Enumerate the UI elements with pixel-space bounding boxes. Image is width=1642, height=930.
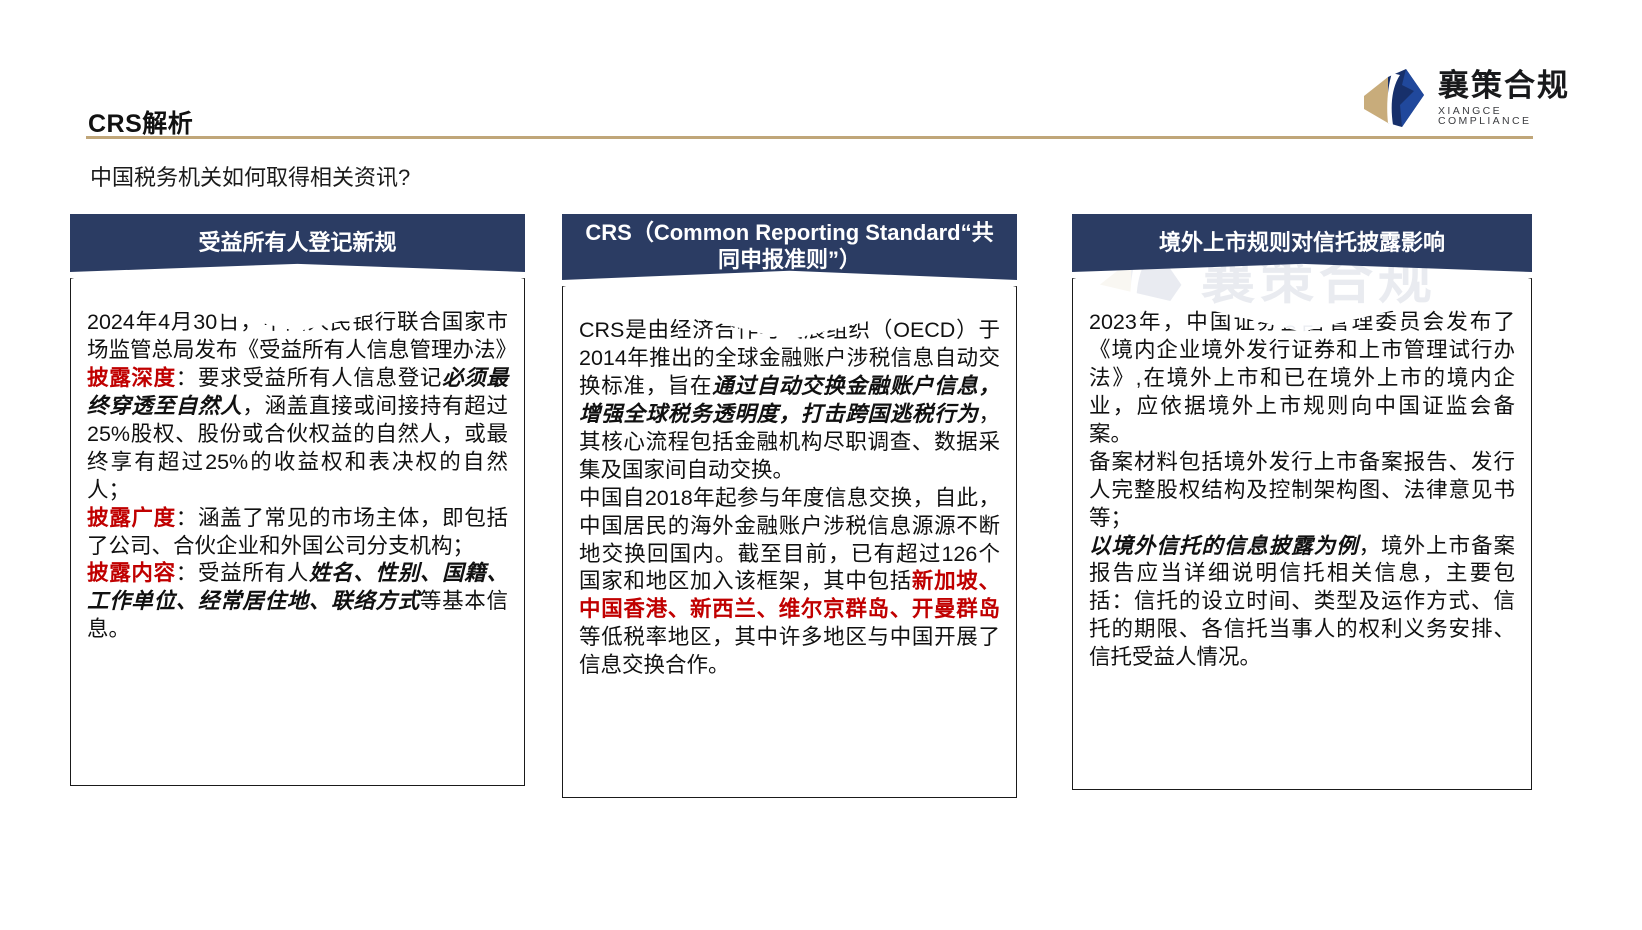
title-divider [86, 136, 1533, 139]
text-run: 披露内容 [87, 561, 176, 585]
card-beneficial-owner: 受益所有人登记新规 2024年4月30日，中国人民银行联合国家市场监管总局发布《… [70, 214, 525, 786]
card-paragraph: 披露内容：受益所有人姓名、性别、国籍、工作单位、经常居住地、联络方式等基本信息。 [87, 560, 508, 644]
text-run: 披露深度 [87, 366, 176, 390]
card-text-overseas-listing: 2023年，中国证券监督管理委员会发布了《境内企业境外发行证券和上市管理试行办法… [1089, 309, 1515, 672]
card-paragraph: CRS是由经济合作与发展组织（OECD）于2014年推出的全球金融账户涉税信息自… [579, 317, 1000, 485]
card-paragraph: 2023年，中国证券监督管理委员会发布了《境内企业境外发行证券和上市管理试行办法… [1089, 309, 1515, 449]
card-body-overseas-listing: 2023年，中国证券监督管理委员会发布了《境内企业境外发行证券和上市管理试行办法… [1072, 278, 1532, 790]
card-text-beneficial-owner: 2024年4月30日，中国人民银行联合国家市场监管总局发布《受益所有人信息管理办… [87, 309, 508, 644]
card-paragraph: 以境外信托的信息披露为例，境外上市备案报告应当详细说明信托相关信息，主要包括：信… [1089, 533, 1515, 673]
card-paragraph: 披露深度：要求受益所有人信息登记必须最终穿透至自然人，涵盖直接或间接持有超过25… [87, 365, 508, 505]
card-paragraph: 中国自2018年起参与年度信息交换，自此，中国居民的海外金融账户涉税信息源源不断… [579, 485, 1000, 681]
text-run: ：受益所有人 [176, 561, 309, 585]
brand-logo: 襄策合规 XIANGCE COMPLIANCE [1362, 62, 1582, 134]
text-run: 备案材料包括境外发行上市备案报告、发行人完整股权结构及控制架构图、法律意见书等； [1089, 450, 1515, 530]
card-banner-beneficial-owner: 受益所有人登记新规 [70, 214, 525, 272]
card-text-crs: CRS是由经济合作与发展组织（OECD）于2014年推出的全球金融账户涉税信息自… [579, 317, 1000, 680]
page-title: CRS解析 [88, 104, 193, 140]
logo-name-en: XIANGCE COMPLIANCE [1438, 106, 1582, 127]
card-banner-overseas-listing: 境外上市规则对信托披露影响 [1072, 214, 1532, 272]
card-paragraph: 披露广度：涵盖了常见的市场主体，即包括了公司、合伙企业和外国公司分支机构； [87, 505, 508, 561]
text-run: 2023年，中国证券监督管理委员会发布了《境内企业境外发行证券和上市管理试行办法… [1089, 310, 1515, 446]
card-paragraph: 备案材料包括境外发行上市备案报告、发行人完整股权结构及控制架构图、法律意见书等； [1089, 449, 1515, 533]
text-run: 2024年4月30日，中国人民银行联合国家市场监管总局发布《受益所有人信息管理办… [87, 310, 517, 362]
text-run: ：要求受益所有人信息登记 [176, 366, 442, 390]
text-run: 披露广度 [87, 506, 176, 530]
card-body-beneficial-owner: 2024年4月30日，中国人民银行联合国家市场监管总局发布《受益所有人信息管理办… [70, 278, 525, 786]
text-run: 以境外信托的信息披露为例 [1089, 534, 1359, 558]
card-body-crs: CRS是由经济合作与发展组织（OECD）于2014年推出的全球金融账户涉税信息自… [562, 286, 1017, 798]
text-run: 等低税率地区，其中许多地区与中国开展了信息交换合作。 [579, 625, 1000, 677]
logo-wordmark: 襄策合规 XIANGCE COMPLIANCE [1438, 70, 1582, 127]
card-crs: CRS（Common Reporting Standard“共同申报准则”） C… [562, 214, 1017, 798]
logo-name-cn: 襄策合规 [1438, 70, 1582, 101]
card-paragraph: 2024年4月30日，中国人民银行联合国家市场监管总局发布《受益所有人信息管理办… [87, 309, 508, 365]
page-subtitle: 中国税务机关如何取得相关资讯? [90, 160, 410, 192]
card-overseas-listing: 境外上市规则对信托披露影响 2023年，中国证券监督管理委员会发布了《境内企业境… [1072, 214, 1532, 790]
card-banner-crs: CRS（Common Reporting Standard“共同申报准则”） [562, 214, 1017, 280]
logo-mark-icon [1362, 65, 1428, 131]
